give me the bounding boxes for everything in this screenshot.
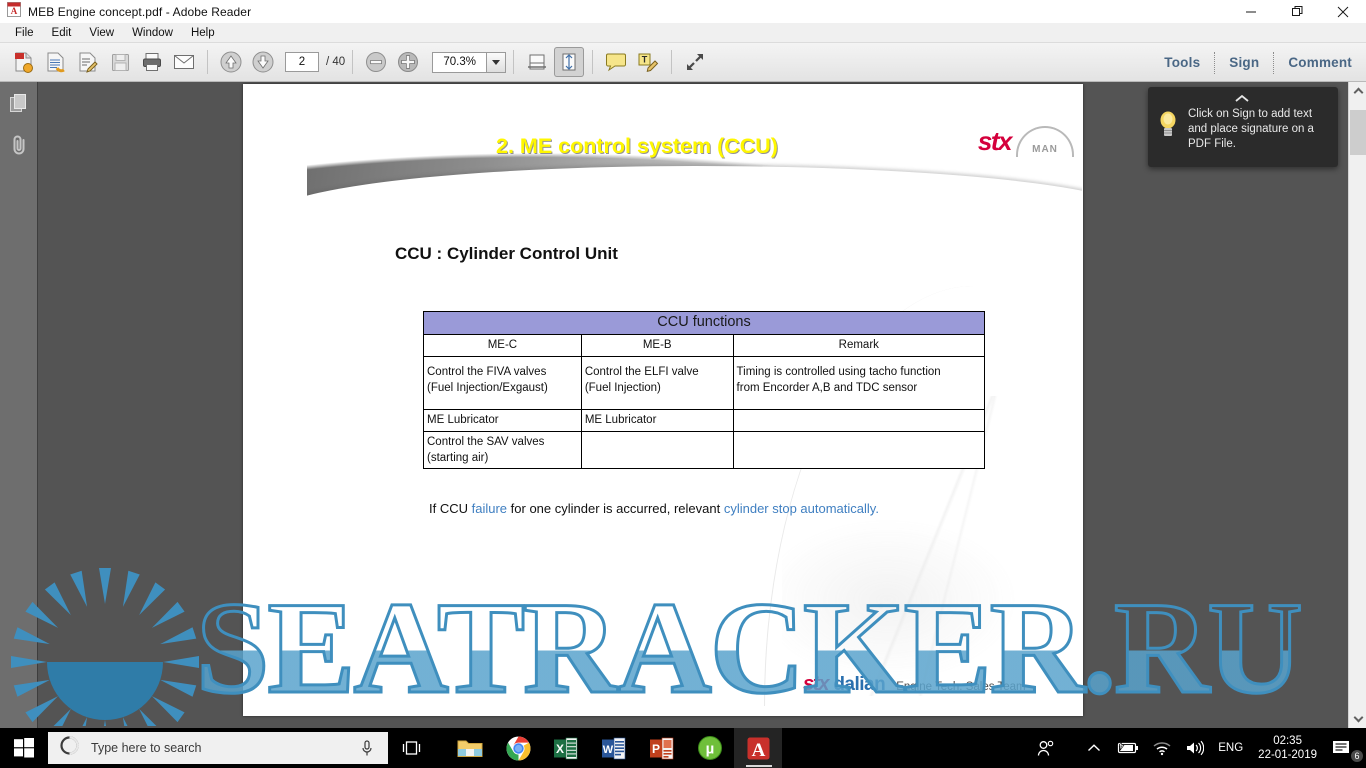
adobe-reader-icon[interactable]: A bbox=[734, 728, 782, 768]
language-indicator[interactable]: ENG bbox=[1211, 728, 1250, 768]
action-center-icon[interactable]: 6 bbox=[1325, 728, 1366, 768]
email-icon[interactable] bbox=[169, 47, 199, 77]
cell-elfi-valve: Control the ELFI valve (Fuel Injection) bbox=[581, 357, 733, 410]
toolbar-separator-3 bbox=[513, 50, 514, 74]
man-logo: MAN bbox=[1016, 126, 1074, 157]
minimize-button[interactable] bbox=[1228, 0, 1274, 23]
slide-logos: stx MAN bbox=[978, 126, 1074, 157]
chevron-down-icon bbox=[492, 60, 500, 65]
pdf-file-icon: A bbox=[7, 2, 21, 22]
previous-page-icon[interactable] bbox=[216, 47, 246, 77]
cortana-circle-icon bbox=[60, 736, 79, 760]
cell-me-lubricator-b: ME Lubricator bbox=[581, 410, 733, 432]
page-number-input[interactable]: 2 bbox=[285, 52, 319, 72]
language-label: ENG bbox=[1218, 742, 1243, 754]
table-caption: CCU functions bbox=[424, 312, 985, 335]
notification-count-badge: 6 bbox=[1350, 749, 1364, 763]
window-controls bbox=[1228, 0, 1366, 23]
toolbar-separator-2 bbox=[352, 50, 353, 74]
battery-charging-icon[interactable] bbox=[1108, 728, 1146, 768]
toolbar-separator bbox=[207, 50, 208, 74]
show-hidden-icons-chevron[interactable] bbox=[1080, 728, 1108, 768]
footer-team-text: Engine Tech. Sales Team bbox=[896, 681, 1025, 693]
clock-date: 22-01-2019 bbox=[1258, 748, 1317, 762]
comment-icon[interactable] bbox=[601, 47, 631, 77]
cell-me-lubricator-c: ME Lubricator bbox=[424, 410, 582, 432]
vertical-scrollbar[interactable] bbox=[1348, 82, 1366, 728]
slide-footer: stx dalian Engine Tech. Sales Team bbox=[803, 673, 1026, 696]
navigation-rail bbox=[0, 82, 38, 728]
sign-button[interactable]: Sign bbox=[1215, 55, 1273, 70]
wifi-icon[interactable] bbox=[1146, 728, 1178, 768]
page-total-label: / 40 bbox=[326, 56, 345, 68]
table-caption-row: CCU functions bbox=[424, 312, 985, 335]
clock-time: 02:35 bbox=[1273, 734, 1302, 748]
attachments-icon[interactable] bbox=[0, 124, 38, 166]
chevron-up-icon bbox=[1353, 88, 1363, 98]
file-explorer-icon[interactable] bbox=[446, 728, 494, 768]
table-header-row: ME-C ME-B Remark bbox=[424, 334, 985, 357]
task-view-icon[interactable] bbox=[388, 728, 434, 768]
edit-pdf-icon[interactable] bbox=[73, 47, 103, 77]
cell-remark-empty-2 bbox=[733, 432, 984, 469]
svg-text:P: P bbox=[652, 742, 660, 756]
table-row: Control the FIVA valves (Fuel Injection/… bbox=[424, 357, 985, 410]
utorrent-icon[interactable]: µ bbox=[686, 728, 734, 768]
zoom-in-icon[interactable] bbox=[393, 47, 423, 77]
svg-text:µ: µ bbox=[706, 741, 715, 758]
maximize-button[interactable] bbox=[1274, 0, 1320, 23]
sign-tooltip-text: Click on Sign to add text and place sign… bbox=[1188, 107, 1328, 152]
sign-tooltip-popup[interactable]: Click on Sign to add text and place sign… bbox=[1148, 87, 1338, 167]
search-input[interactable]: Type here to search bbox=[48, 732, 388, 764]
scroll-up-button[interactable] bbox=[1349, 82, 1366, 100]
column-header-me-b: ME-B bbox=[581, 334, 733, 357]
microsoft-word-icon[interactable]: W bbox=[590, 728, 638, 768]
slide-header-banner: 2. ME control system (CCU) stx MAN bbox=[307, 114, 1082, 236]
people-icon[interactable] bbox=[1030, 728, 1062, 768]
svg-text:X: X bbox=[556, 742, 564, 756]
fit-page-icon[interactable] bbox=[554, 47, 584, 77]
man-logo-text: MAN bbox=[1032, 144, 1058, 157]
stx-logo: stx bbox=[978, 126, 1011, 157]
svg-text:A: A bbox=[11, 6, 18, 16]
svg-text:W: W bbox=[603, 744, 614, 756]
desktop-root: A MEB Engine concept.pdf - Adobe Reader … bbox=[0, 0, 1366, 768]
create-pdf-icon[interactable] bbox=[9, 47, 39, 77]
slide-subtitle: CCU : Cylinder Control Unit bbox=[395, 244, 618, 264]
save-icon[interactable] bbox=[105, 47, 135, 77]
footer-stx-logo: stx bbox=[803, 673, 828, 696]
clock[interactable]: 02:35 22-01-2019 bbox=[1250, 734, 1325, 762]
footer-dalian-text: dalian bbox=[833, 674, 885, 696]
export-pdf-icon[interactable] bbox=[41, 47, 71, 77]
slide-note: If CCU failure for one cylinder is accur… bbox=[429, 501, 879, 516]
volume-icon[interactable] bbox=[1178, 728, 1211, 768]
table-row: ME Lubricator ME Lubricator bbox=[424, 410, 985, 432]
slide-content: 2. ME control system (CCU) stx MAN CCU :… bbox=[307, 114, 1082, 706]
pdf-page: 2. ME control system (CCU) stx MAN CCU :… bbox=[243, 84, 1083, 716]
zoom-out-icon[interactable] bbox=[361, 47, 391, 77]
window-title: MEB Engine concept.pdf - Adobe Reader bbox=[28, 5, 251, 19]
comment-button[interactable]: Comment bbox=[1274, 55, 1366, 70]
menu-view[interactable]: View bbox=[80, 25, 123, 41]
windows-start-icon[interactable] bbox=[0, 728, 48, 768]
menu-file[interactable]: File bbox=[6, 25, 43, 41]
tools-button[interactable]: Tools bbox=[1150, 55, 1214, 70]
system-tray: ENG 02:35 22-01-2019 6 bbox=[1030, 728, 1366, 768]
fit-width-icon[interactable] bbox=[522, 47, 552, 77]
cell-me-b-empty bbox=[581, 432, 733, 469]
main-toolbar: 2 / 40 70.3% bbox=[0, 43, 1366, 82]
chevron-up-icon bbox=[1234, 90, 1250, 108]
print-icon[interactable] bbox=[137, 47, 167, 77]
close-button[interactable] bbox=[1320, 0, 1366, 23]
zoom-level-input[interactable]: 70.3% bbox=[432, 52, 486, 73]
svg-text:A: A bbox=[751, 740, 765, 760]
app-running-indicator bbox=[746, 765, 772, 767]
document-viewport[interactable]: 2. ME control system (CCU) stx MAN CCU :… bbox=[38, 82, 1348, 728]
window-titlebar: A MEB Engine concept.pdf - Adobe Reader bbox=[0, 0, 1366, 23]
search-placeholder-text: Type here to search bbox=[91, 741, 201, 755]
windows-taskbar: Type here to search bbox=[0, 728, 1366, 768]
cell-sav-valves: Control the SAV valves (starting air) bbox=[424, 432, 582, 469]
menu-window[interactable]: Window bbox=[123, 25, 182, 41]
note-highlight-failure: failure bbox=[472, 501, 507, 516]
page-thumbnails-icon[interactable] bbox=[0, 82, 38, 124]
next-page-icon[interactable] bbox=[248, 47, 278, 77]
highlight-text-icon[interactable]: T bbox=[633, 47, 663, 77]
column-header-me-c: ME-C bbox=[424, 334, 582, 357]
note-part-2: for one cylinder is accurred, relevant bbox=[507, 501, 724, 516]
microphone-icon[interactable] bbox=[360, 740, 374, 762]
read-mode-icon[interactable] bbox=[680, 47, 710, 77]
google-chrome-icon[interactable] bbox=[494, 728, 542, 768]
menu-edit[interactable]: Edit bbox=[43, 25, 81, 41]
cell-remark-empty-1 bbox=[733, 410, 984, 432]
ccu-functions-table: CCU functions ME-C ME-B Remark Control t… bbox=[423, 311, 985, 469]
slide-title: 2. ME control system (CCU) bbox=[307, 134, 967, 159]
svg-text:T: T bbox=[642, 55, 648, 65]
cell-fiva-valves: Control the FIVA valves (Fuel Injection/… bbox=[424, 357, 582, 410]
cell-timing-remark: Timing is controlled using tacho functio… bbox=[733, 357, 984, 410]
zoom-dropdown-button[interactable] bbox=[486, 52, 506, 73]
table-row: Control the SAV valves (starting air) bbox=[424, 432, 985, 469]
menubar: File Edit View Window Help bbox=[0, 23, 1366, 43]
microsoft-powerpoint-icon[interactable]: P bbox=[638, 728, 686, 768]
lightbulb-icon bbox=[1158, 109, 1178, 146]
note-highlight-stop: cylinder stop automatically. bbox=[724, 501, 879, 516]
vertical-scrollbar-thumb[interactable] bbox=[1350, 110, 1366, 155]
toolbar-separator-5 bbox=[671, 50, 672, 74]
scroll-down-button[interactable] bbox=[1349, 710, 1366, 728]
menu-help[interactable]: Help bbox=[182, 25, 224, 41]
toolbar-separator-4 bbox=[592, 50, 593, 74]
toolbar-right-panel: Tools Sign Comment bbox=[1150, 43, 1366, 82]
note-part-1: If CCU bbox=[429, 501, 472, 516]
microsoft-excel-icon[interactable]: X bbox=[542, 728, 590, 768]
chevron-down-icon bbox=[1353, 713, 1363, 723]
column-header-remark: Remark bbox=[733, 334, 984, 357]
